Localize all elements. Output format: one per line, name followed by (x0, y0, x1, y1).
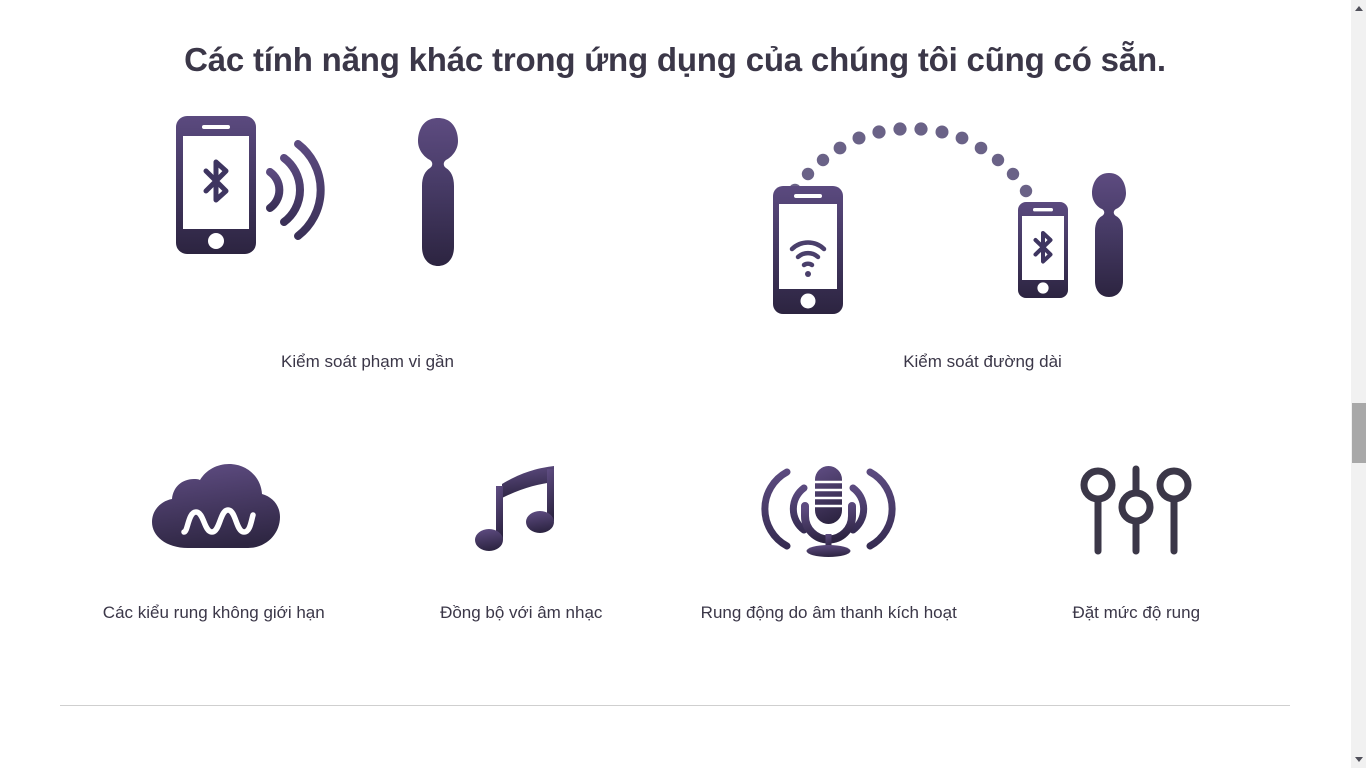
feature-illustration (368, 455, 676, 565)
cloud-wave-icon (144, 460, 284, 560)
page-content: Các tính năng khác trong ứng dụng của ch… (0, 0, 1350, 768)
equalizer-sliders-icon (1081, 463, 1191, 558)
feature-label: Kiểm soát đường dài (675, 350, 1290, 374)
scroll-down-button[interactable] (1351, 751, 1366, 768)
page-root: Các tính năng khác trong ứng dụng của ch… (0, 0, 1366, 768)
feature-sound-activated: Rung động do âm thanh kích hoạt (675, 455, 983, 635)
feature-row-secondary: Các kiểu rung không giới hạn (60, 455, 1290, 635)
feature-music-sync: Đồng bộ với âm nhạc (368, 455, 676, 635)
scroll-up-button[interactable] (1351, 0, 1366, 17)
feature-long-distance-control: Kiểm soát đường dài (675, 100, 1290, 400)
feature-label: Rung động do âm thanh kích hoạt (675, 601, 983, 625)
feature-label: Đồng bộ với âm nhạc (368, 601, 676, 625)
feature-label: Kiểm soát phạm vi gần (60, 350, 675, 374)
feature-unlimited-patterns: Các kiểu rung không giới hạn (60, 455, 368, 635)
scrollbar-thumb[interactable] (1352, 403, 1366, 463)
feature-illustration (60, 455, 368, 565)
two-phones-long-distance-arc-wand-icon (773, 90, 1193, 330)
feature-short-range-control: Kiểm soát phạm vi gần (60, 100, 675, 400)
feature-label: Các kiểu rung không giới hạn (60, 601, 368, 625)
page-scrollbar[interactable] (1350, 0, 1366, 768)
feature-vibration-level: Đặt mức độ rung (983, 455, 1291, 635)
feature-illustration (983, 455, 1291, 565)
feature-illustration (675, 100, 1290, 320)
phone-bluetooth-waves-wand-icon (158, 110, 578, 310)
scroll-up-arrow-icon (1355, 6, 1363, 11)
scroll-down-arrow-icon (1355, 757, 1363, 762)
feature-row-primary: Kiểm soát phạm vi gần (60, 100, 1290, 400)
feature-illustration (60, 100, 675, 320)
music-note-icon (476, 460, 566, 560)
microphone-sound-waves-icon (761, 460, 896, 560)
feature-illustration (675, 455, 983, 565)
feature-label: Đặt mức độ rung (983, 601, 1291, 625)
page-title: Các tính năng khác trong ứng dụng của ch… (0, 38, 1350, 82)
section-divider (60, 705, 1290, 706)
